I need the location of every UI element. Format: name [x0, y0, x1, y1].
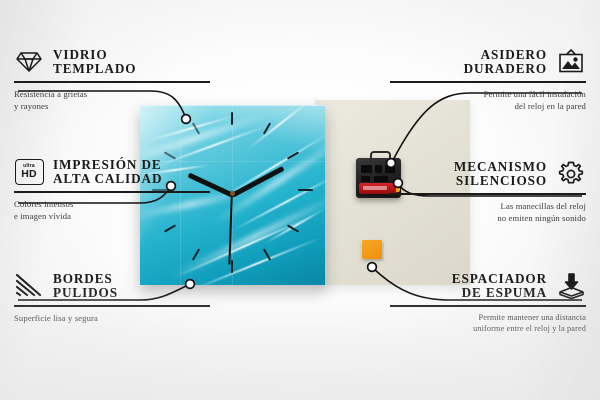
clock-center-pin [230, 191, 235, 196]
feature-impresion-alta-calidad: ultra HD IMPRESIÓN DE ALTA CALIDAD Color… [14, 158, 210, 222]
feature-description: Superficie lisa y segura [14, 312, 210, 324]
feature-mecanismo-silencioso: MECANISMO SILENCIOSO Las manecillas del … [390, 160, 586, 224]
feature-divider [390, 193, 586, 195]
diagonal-lines-icon [14, 273, 44, 299]
feature-bordes-pulidos: BORDES PULIDOS Superficie lisa y segura [14, 272, 210, 324]
feature-title-line2: PULIDOS [53, 286, 118, 300]
feature-title-line2: DURADERO [464, 62, 547, 76]
feature-title-line2: DE ESPUMA [452, 286, 547, 300]
feature-title-line1: VIDRIO [53, 48, 136, 62]
feature-vidrio-templado: VIDRIO TEMPLADO Resistencia a grietas y … [14, 48, 210, 112]
feature-title-line1: ESPACIADOR [452, 272, 547, 286]
feature-divider [14, 81, 210, 83]
desc-line-1: Permite mantener una distancia [479, 313, 587, 322]
feature-description: Resistencia a grietas y rayones [14, 88, 210, 112]
gear-icon [556, 161, 586, 187]
foam-spacer [362, 240, 382, 259]
desc-line-1: Las manecillas del reloj [501, 201, 586, 211]
arrow-down-pad-icon [556, 273, 586, 299]
feature-description: Permite mantener una distancia uniforme … [390, 312, 586, 335]
feature-description: Colores intensos e imagen vívida [14, 198, 210, 222]
feature-title-line1: ASIDERO [464, 48, 547, 62]
desc-line-1: Resistencia a grietas [14, 89, 87, 99]
feature-title-line1: MECANISMO [454, 160, 547, 174]
hd-icon-large-text: HD [21, 169, 37, 180]
clock-tick [231, 112, 233, 125]
diamond-icon [14, 49, 44, 75]
feature-title-line2: SILENCIOSO [454, 174, 547, 188]
feature-title-line2: TEMPLADO [53, 62, 136, 76]
clock-tick [231, 260, 233, 273]
ultra-hd-icon: ultra HD [14, 159, 44, 185]
infographic-canvas: VIDRIO TEMPLADO Resistencia a grietas y … [0, 0, 600, 400]
feature-title-line2: ALTA CALIDAD [53, 172, 162, 186]
feature-espaciador-de-espuma: ESPACIADOR DE ESPUMA Permite mantener un… [390, 272, 586, 335]
desc-line-2: del reloj en la pared [515, 101, 586, 111]
desc-line-2: no emiten ningún sonido [497, 213, 586, 223]
feature-divider [390, 81, 586, 83]
desc-line-1: Colores intensos [14, 199, 73, 209]
desc-line-2: uniforme entre el reloj y la pared [473, 324, 586, 333]
desc-line-1: Superficie lisa y segura [14, 313, 98, 323]
desc-line-2: e imagen vívida [14, 211, 71, 221]
feature-asidero-duradero: ASIDERO DURADERO Permite una fácil insta… [390, 48, 586, 112]
feature-title-line1: BORDES [53, 272, 118, 286]
feature-divider [14, 191, 210, 193]
desc-line-2: y rayones [14, 101, 49, 111]
feature-divider [14, 305, 210, 307]
clock-tick [164, 224, 176, 232]
feature-description: Permite una fácil instalación del reloj … [390, 88, 586, 112]
desc-line-1: Permite una fácil instalación [484, 89, 586, 99]
feature-description: Las manecillas del reloj no emiten ningú… [390, 200, 586, 224]
mechanism-hanger [370, 151, 391, 162]
feature-divider [390, 305, 586, 307]
feature-title-line1: IMPRESIÓN DE [53, 158, 162, 172]
picture-frame-hanger-icon [556, 49, 586, 75]
